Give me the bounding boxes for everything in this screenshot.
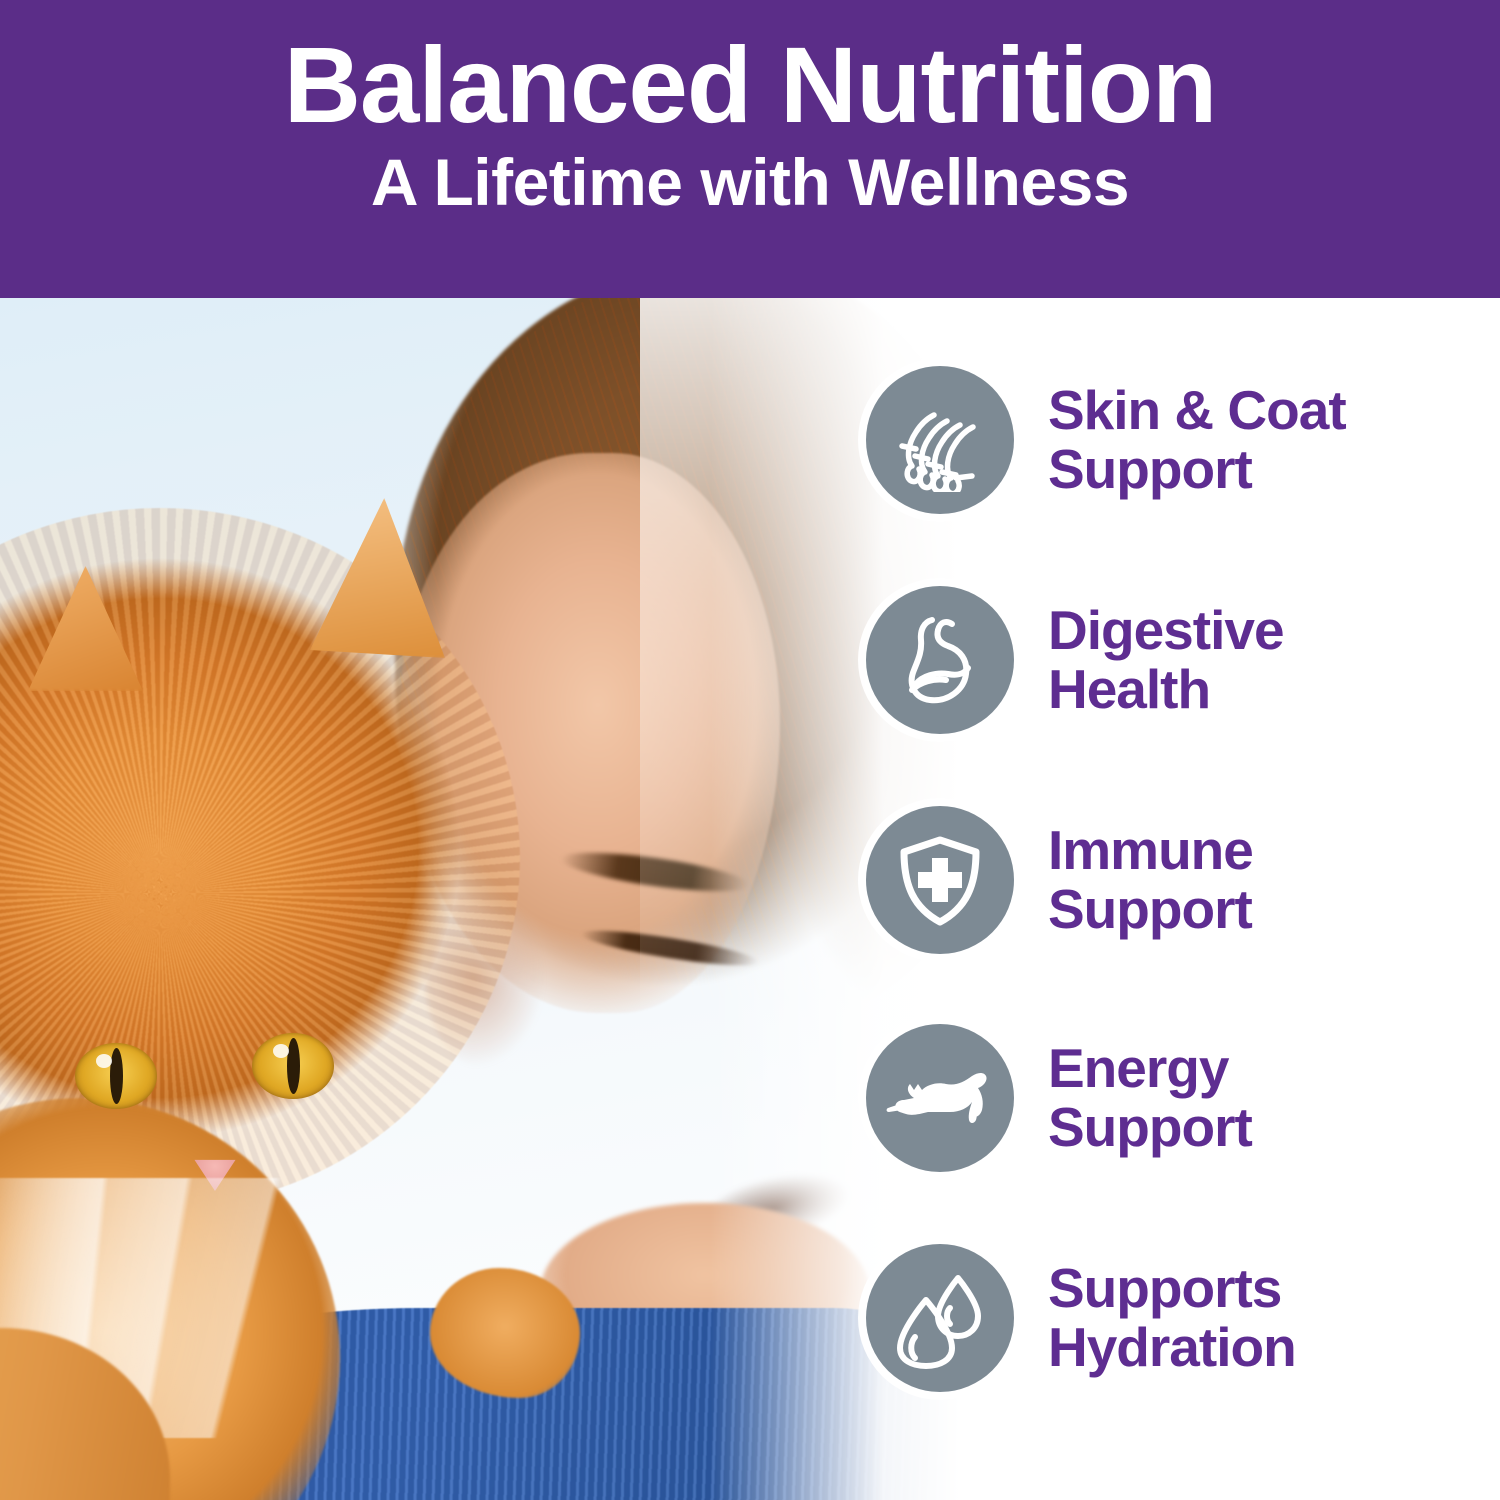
photo-right-fade: [0, 298, 960, 1500]
benefit-label-digestive: Digestive Health: [1048, 601, 1284, 719]
benefit-label-line2: Health: [1048, 660, 1284, 719]
hair-follicles-icon: [866, 366, 1014, 514]
shield-cross-icon: [866, 806, 1014, 954]
benefit-label-immune: Immune Support: [1048, 821, 1253, 939]
benefit-label-line2: Support: [1048, 880, 1253, 939]
benefit-item-immune: Immune Support: [860, 800, 1500, 960]
benefit-label-line1: Skin & Coat: [1048, 379, 1346, 441]
benefit-label-hydration: Supports Hydration: [1048, 1259, 1296, 1377]
benefit-label-line2: Support: [1048, 440, 1346, 499]
benefit-item-hydration: Supports Hydration: [860, 1238, 1500, 1398]
benefit-label-line1: Energy: [1048, 1037, 1228, 1099]
water-droplets-icon: [866, 1244, 1014, 1392]
benefit-item-energy: Energy Support: [860, 1018, 1500, 1178]
benefit-label-line1: Digestive: [1048, 599, 1284, 661]
benefit-label-line2: Support: [1048, 1098, 1252, 1157]
page-title: Balanced Nutrition: [284, 30, 1217, 140]
benefits-list: Skin & Coat Support Digestive Health: [860, 298, 1500, 1500]
benefit-item-digestive: Digestive Health: [860, 580, 1500, 740]
benefit-label-line1: Supports: [1048, 1257, 1281, 1319]
benefit-label-line1: Immune: [1048, 819, 1253, 881]
benefit-label-line2: Hydration: [1048, 1318, 1296, 1377]
benefit-label-energy: Energy Support: [1048, 1039, 1252, 1157]
header-banner: Balanced Nutrition A Lifetime with Welln…: [0, 0, 1500, 298]
benefit-label-skin-coat: Skin & Coat Support: [1048, 381, 1346, 499]
product-benefits-infographic: Balanced Nutrition A Lifetime with Welln…: [0, 0, 1500, 1500]
lifestyle-photo: [0, 298, 960, 1500]
stomach-icon: [866, 586, 1014, 734]
benefit-item-skin-coat: Skin & Coat Support: [860, 360, 1500, 520]
leaping-cat-icon: [866, 1024, 1014, 1172]
page-subtitle: A Lifetime with Wellness: [371, 146, 1129, 219]
